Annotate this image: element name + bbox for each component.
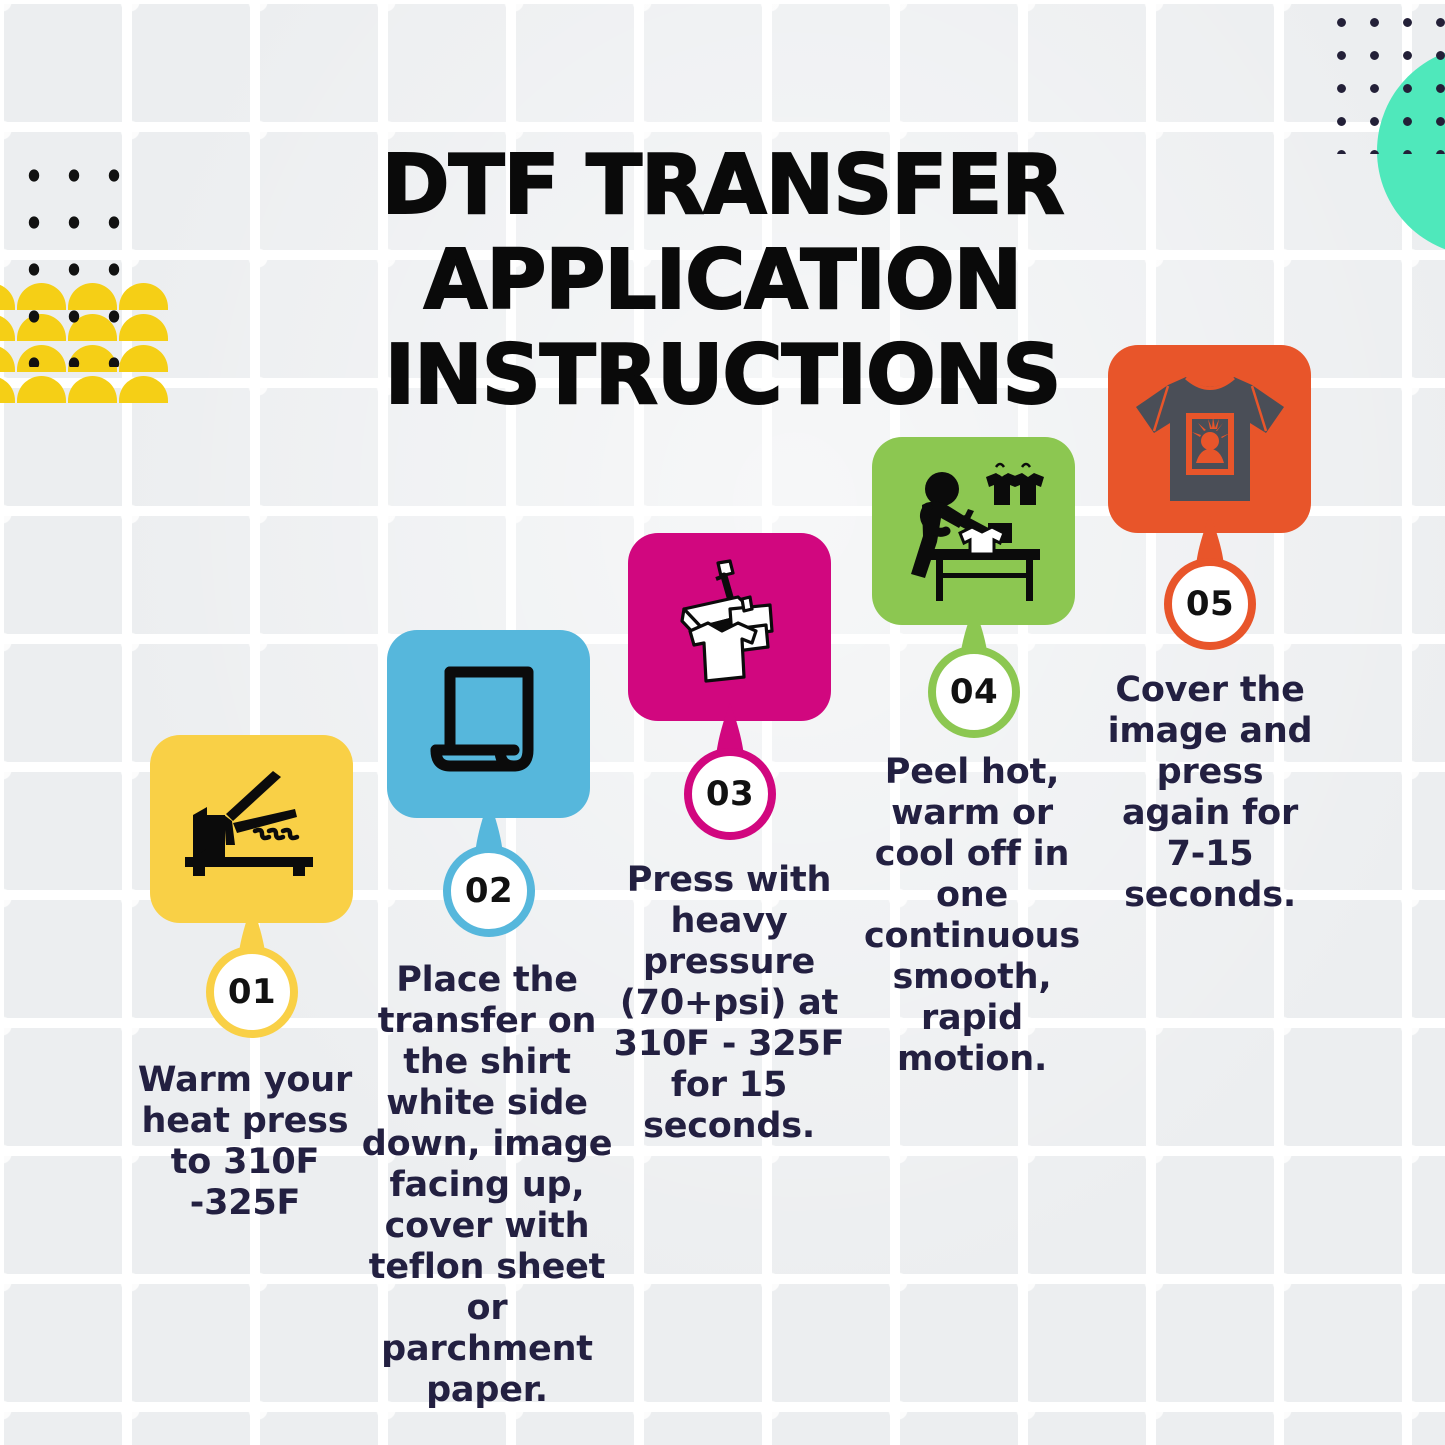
- step-02-badge: 02: [443, 845, 535, 937]
- step-04-icon-card: [872, 437, 1075, 625]
- step-04-number: 04: [950, 672, 998, 712]
- step-02-description: Place the transfer on the shirt white si…: [357, 960, 617, 1411]
- heat-press-open-icon: [177, 769, 327, 889]
- transfer-sheet-icon: [428, 662, 550, 786]
- step-01-number: 01: [228, 972, 276, 1012]
- step-05-badge: 05: [1164, 558, 1256, 650]
- heat-press-machine-icon: [660, 557, 800, 697]
- step-01-icon-card: [150, 735, 353, 923]
- printed-tshirt-icon: [1130, 371, 1290, 507]
- step-02-icon-card: [387, 630, 590, 818]
- step-03-description: Press with heavy pressure (70+psi) at 31…: [612, 860, 847, 1147]
- person-peeling-transfer-icon: [894, 461, 1054, 601]
- step-01-badge: 01: [206, 946, 298, 1038]
- step-04-badge: 04: [928, 646, 1020, 738]
- step-02-number: 02: [465, 871, 513, 911]
- infographic-canvas: DTF TRANSFER APPLICATION INSTRUCTIONS: [0, 0, 1445, 1445]
- step-03-number: 03: [706, 774, 754, 814]
- step-05-description: Cover the image and press again for 7-15…: [1100, 670, 1320, 916]
- step-05-icon-card: [1108, 345, 1311, 533]
- step-03-icon-card: [628, 533, 831, 721]
- steps-container: 01 Warm your heat press to 310F -325F: [0, 0, 1445, 1445]
- step-05-number: 05: [1186, 584, 1234, 624]
- step-01-description: Warm your heat press to 310F -325F: [120, 1060, 370, 1224]
- step-04-description: Peel hot, warm or cool off in one contin…: [860, 752, 1085, 1080]
- step-03-badge: 03: [684, 748, 776, 840]
